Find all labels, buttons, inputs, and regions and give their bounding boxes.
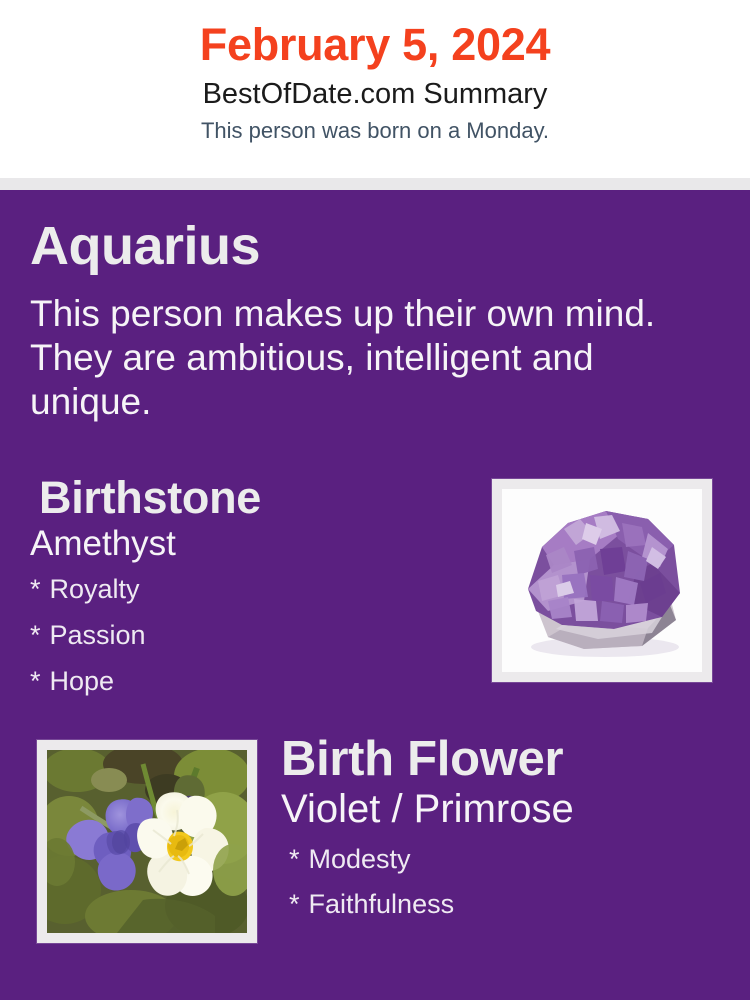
list-item: *Royalty xyxy=(30,576,470,603)
bullet-glyph: * xyxy=(289,844,300,874)
trait-label: Hope xyxy=(50,666,115,696)
list-item: *Hope xyxy=(30,668,470,695)
header: February 5, 2024 BestOfDate.com Summary … xyxy=(0,0,750,178)
birthstone-section: Birthstone Amethyst *Royalty *Passion *H… xyxy=(30,475,470,714)
bullet-glyph: * xyxy=(30,620,41,650)
birthstone-image-frame xyxy=(492,479,712,682)
birth-flower-name: Violet / Primrose xyxy=(281,786,721,832)
list-item: *Modesty xyxy=(289,846,721,873)
birthstone-trait-list: *Royalty *Passion *Hope xyxy=(30,576,470,695)
zodiac-description: This person makes up their own mind. The… xyxy=(30,292,690,424)
birth-flower-image-frame xyxy=(37,740,257,943)
birth-day-note: This person was born on a Monday. xyxy=(0,117,750,145)
page-title: February 5, 2024 xyxy=(0,22,750,69)
birth-flower-section: Birth Flower Violet / Primrose *Modesty … xyxy=(281,735,721,936)
list-item: *Faithfulness xyxy=(289,891,721,918)
birthstone-title: Birthstone xyxy=(30,475,470,521)
birthstone-name: Amethyst xyxy=(30,524,470,565)
bullet-glyph: * xyxy=(30,666,41,696)
birth-flower-image xyxy=(47,750,247,933)
zodiac-sign-title: Aquarius xyxy=(30,219,260,273)
bullet-glyph: * xyxy=(289,889,300,919)
content-panel: Aquarius This person makes up their own … xyxy=(0,190,750,1000)
trait-label: Passion xyxy=(50,620,146,650)
birth-flower-title: Birth Flower xyxy=(281,735,721,785)
trait-label: Royalty xyxy=(50,574,140,604)
summary-card: February 5, 2024 BestOfDate.com Summary … xyxy=(0,0,750,1000)
list-item: *Passion xyxy=(30,622,470,649)
birthstone-image xyxy=(502,489,702,672)
site-subtitle: BestOfDate.com Summary xyxy=(0,76,750,112)
birth-flower-trait-list: *Modesty *Faithfulness xyxy=(281,846,721,918)
bullet-glyph: * xyxy=(30,574,41,604)
trait-label: Faithfulness xyxy=(309,889,455,919)
header-divider xyxy=(0,178,750,190)
trait-label: Modesty xyxy=(309,844,411,874)
